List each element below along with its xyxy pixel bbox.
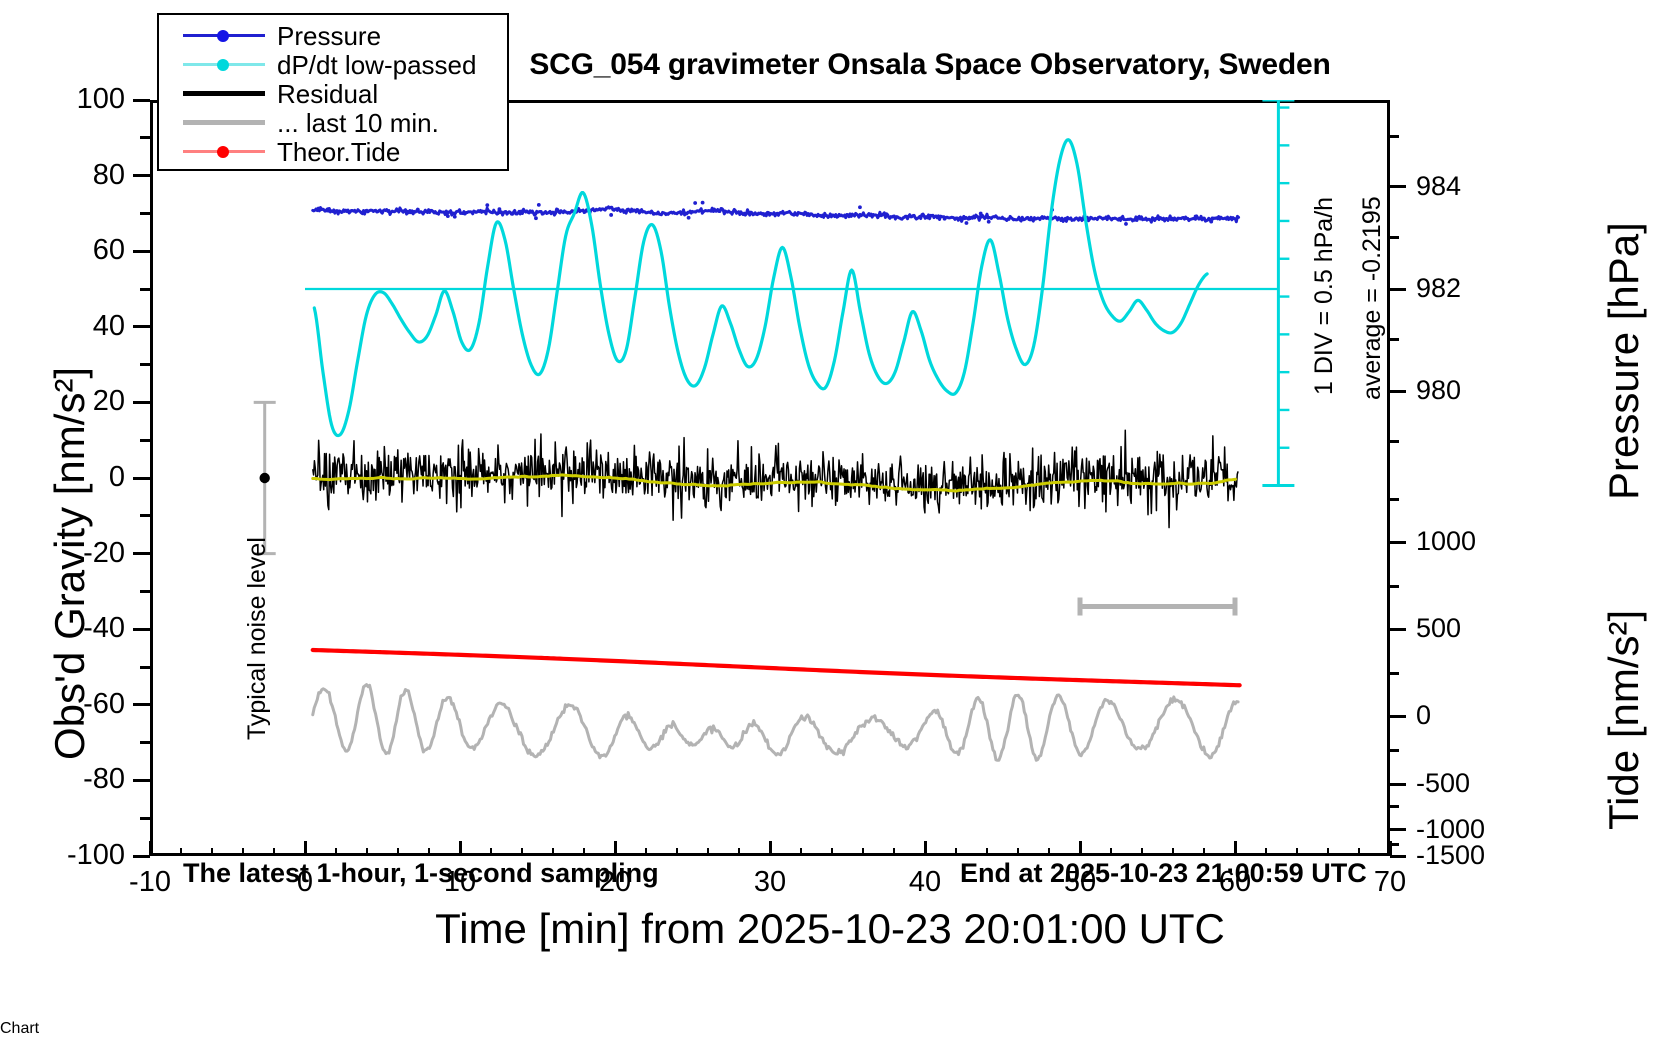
x-tick-minor [645,848,647,856]
y-tick-major [133,325,150,328]
pressure-outlier-dot [687,216,691,220]
x-tick-minor [1141,848,1143,856]
tide-tick-minor [1390,843,1399,846]
y-tick-major [133,99,150,102]
legend-label-tide: Theor.Tide [277,139,400,165]
noise-level-center-dot [260,473,270,483]
y-tick-minor [140,741,150,744]
x-tick-minor [1017,848,1019,856]
tide-tick-label: 1000 [1416,528,1536,555]
pressure-tick-major [1390,185,1406,188]
x-tick-minor [831,848,833,856]
x-tick-minor [1265,848,1267,856]
series-pressure [313,207,1239,222]
cyan-average-label: average = -0.2195 [1358,196,1387,400]
x-tick-major [304,841,307,856]
x-tick-major [149,841,152,856]
tide-tick-minor [1390,749,1399,752]
tide-tick-label: -500 [1416,770,1536,797]
x-tick-minor [366,848,368,856]
tide-tick-minor [1390,805,1399,808]
pressure-outlier-dot [1119,217,1123,221]
x-tick-minor [986,848,988,856]
y-tick-minor [140,666,150,669]
x-tick-minor [738,848,740,856]
y-tick-minor [140,212,150,215]
x-tick-minor [552,848,554,856]
legend-item-tide: Theor.Tide [159,137,507,166]
y-tick-minor [140,817,150,820]
pressure-tick-minor [1390,440,1399,443]
pressure-tick-label: 982 [1416,275,1536,302]
y-tick-major [133,628,150,631]
tide-tick-major [1390,628,1406,631]
y-axis-left-title: Obs'd Gravity [nm/s²] [46,367,94,760]
x-tick-minor [1296,848,1298,856]
x-tick-label: 30 [720,868,820,897]
y-tick-major [133,552,150,555]
x-tick-minor [490,848,492,856]
footer-sampling-note: The latest 1-hour, 1-second sampling [183,858,659,889]
legend-label-dpdt: dP/dt low-passed [277,52,476,78]
x-tick-major [614,841,617,856]
pressure-outlier-dot [1194,215,1198,219]
x-tick-minor [893,848,895,856]
x-tick-minor [521,848,523,856]
x-tick-minor [1110,848,1112,856]
x-tick-minor [800,848,802,856]
x-tick-minor [1327,848,1329,856]
series-dpdt-lowpassed [314,140,1207,436]
x-tick-minor [273,848,275,856]
pressure-outlier-dot [498,207,502,211]
y-tick-label-left: -100 [5,841,125,870]
legend-swatch-residual [181,79,267,108]
x-tick-minor [1048,848,1050,856]
tide-tick-minor [1390,585,1399,588]
y-tick-label-left: 60 [5,236,125,265]
series-last-10-min [313,685,1238,761]
tide-tick-label: 0 [1416,702,1536,729]
y-tick-major [133,401,150,404]
pressure-outlier-dot [453,215,457,219]
pressure-outlier-dot [987,220,991,224]
tide-tick-major [1390,855,1406,858]
pressure-tick-label: 984 [1416,173,1536,200]
y-tick-major [133,250,150,253]
legend-label-pressure: Pressure [277,23,381,49]
tide-tick-minor [1390,672,1399,675]
pressure-outlier-dot [1209,220,1213,224]
x-tick-minor [707,848,709,856]
pressure-tick-label: 980 [1416,377,1536,404]
pressure-outlier-dot [326,207,330,211]
y-axis-tide-title: Tide [nm/s²] [1600,610,1648,830]
y-tick-major [133,174,150,177]
x-tick-major [1079,841,1082,856]
pressure-outlier-dot [537,203,541,207]
legend-item-residual: Residual [159,79,507,108]
pressure-outlier-dot [609,213,613,217]
plot-canvas [150,100,1390,856]
x-tick-minor [335,848,337,856]
pressure-outlier-dot [693,201,697,205]
tide-tick-minor [1390,498,1399,501]
pressure-outlier-dot [858,205,862,209]
pressure-tick-minor [1390,236,1399,239]
pressure-outlier-dot [485,203,489,207]
x-tick-major [459,841,462,856]
y-tick-major [133,477,150,480]
x-tick-minor [583,848,585,856]
y-tick-minor [140,363,150,366]
x-tick-minor [428,848,430,856]
pressure-outlier-dot [534,216,538,220]
legend-item-last10: ... last 10 min. [159,108,507,137]
x-tick-minor [242,848,244,856]
footer-end-timestamp: End at 2025-10-23 21:00:59 UTC [960,858,1367,889]
x-tick-minor [862,848,864,856]
legend-swatch-tide [181,137,267,166]
y-tick-minor [140,590,150,593]
tide-tick-major [1390,783,1406,786]
x-tick-major [1234,841,1237,856]
pressure-outlier-dot [965,221,969,225]
tide-tick-label: -1500 [1416,842,1536,869]
typical-noise-level-label: Typical noise level [243,537,272,740]
y-tick-major [133,779,150,782]
legend: Pressure dP/dt low-passed Residual ... l… [157,13,509,171]
pressure-outlier-dot [416,208,420,212]
legend-item-pressure: Pressure [159,21,507,50]
x-tick-minor [211,848,213,856]
pressure-tick-major [1390,390,1406,393]
x-tick-minor [397,848,399,856]
x-tick-minor [1358,848,1360,856]
y-tick-major [133,703,150,706]
pressure-outlier-dot [701,201,705,205]
y-tick-minor [140,136,150,139]
pressure-outlier-dot [463,212,467,216]
chart-title: SCG_054 gravimeter Onsala Space Observat… [430,48,1430,82]
pressure-outlier-dot [446,214,450,218]
legend-swatch-last10 [181,108,267,137]
tide-tick-major [1390,828,1406,831]
pressure-outlier-dot [967,217,971,221]
y-axis-pressure-title: Pressure [hPa] [1600,222,1648,500]
y-tick-minor [140,514,150,517]
cyan-division-label: 1 DIV = 0.5 hPa/h [1310,197,1339,395]
tide-tick-label: -1000 [1416,816,1536,843]
pressure-outlier-dot [979,212,983,216]
y-tick-minor [140,439,150,442]
y-tick-minor [140,288,150,291]
tide-tick-major [1390,715,1406,718]
y-tick-label-left: 100 [5,85,125,114]
pressure-outlier-dot [943,217,947,221]
y-tick-label-left: -80 [5,765,125,794]
x-tick-minor [955,848,957,856]
pressure-tick-minor [1390,338,1399,341]
pressure-outlier-dot [1124,222,1128,226]
pressure-outlier-dot [652,212,656,216]
legend-swatch-dpdt [181,50,267,79]
x-tick-minor [1203,848,1205,856]
pressure-tick-minor [1390,135,1399,138]
x-tick-minor [1172,848,1174,856]
x-axis-title: Time [min] from 2025-10-23 20:01:00 UTC [0,905,1660,953]
pressure-tick-major [1390,288,1406,291]
series-theoretical-tide [313,650,1240,685]
legend-item-dpdt: dP/dt low-passed [159,50,507,79]
tide-tick-major [1390,541,1406,544]
legend-label-last10: ... last 10 min. [277,110,439,136]
y-tick-label-left: 80 [5,161,125,190]
legend-label-residual: Residual [277,81,378,107]
legend-swatch-pressure [181,21,267,50]
x-tick-major [924,841,927,856]
x-tick-minor [676,848,678,856]
y-tick-major [133,855,150,858]
y-tick-label-left: 40 [5,312,125,341]
x-tick-major [769,841,772,856]
x-tick-minor [180,848,182,856]
tide-tick-label: 500 [1416,615,1536,642]
